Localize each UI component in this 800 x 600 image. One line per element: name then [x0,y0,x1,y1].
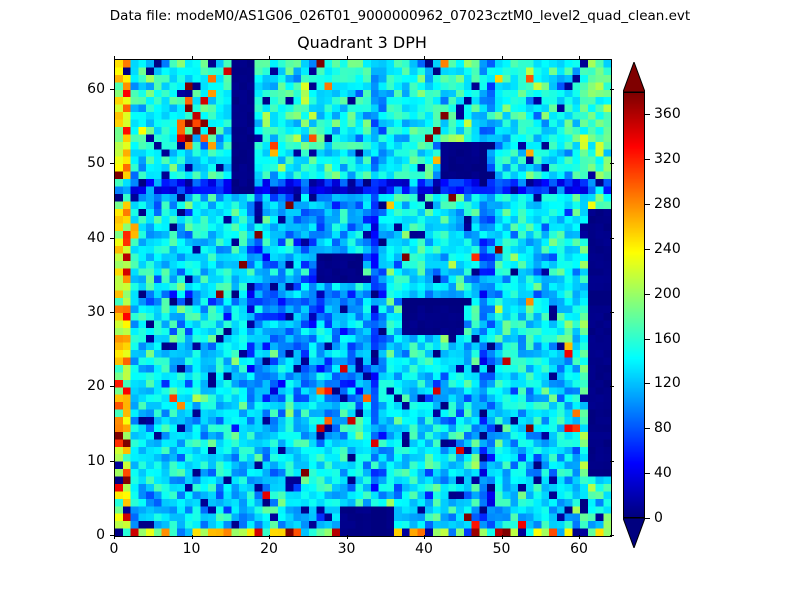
colorbar-gradient [624,93,644,517]
colorbar-tick [645,204,650,205]
y-axis-tick [110,535,114,536]
colorbar-tick-label: 160 [654,331,681,347]
colorbar-tick-label: 280 [654,196,681,212]
colorbar-extend-high-arrow-icon [623,62,645,92]
x-axis-tick-label: 20 [260,541,278,557]
datafile-label: Data file: modeM0/AS1G06_026T01_90000009… [110,8,690,24]
x-axis-tick [269,535,270,539]
y-axis-tick-right [610,163,614,164]
colorbar-tick [645,383,650,384]
colorbar-tick-label: 0 [654,510,663,526]
y-axis-tick-label: 60 [87,81,105,97]
x-axis-tick [192,535,193,539]
x-axis-tick [579,535,580,539]
y-axis-tick-right [610,89,614,90]
y-axis-tick-right [610,238,614,239]
colorbar-tick-label: 360 [654,106,681,122]
x-axis-tick-label: 50 [493,541,511,557]
colorbar-tick [645,114,650,115]
x-axis-tick-top [424,56,425,60]
colorbar-tick-label: 40 [654,465,672,481]
y-axis-tick [110,163,114,164]
x-axis-tick-top [502,56,503,60]
x-axis-tick [424,535,425,539]
x-axis-tick-top [192,56,193,60]
colorbar-body [623,92,645,518]
colorbar-tick [645,294,650,295]
y-axis-tick-label: 40 [87,230,105,246]
y-axis-tick-label: 20 [87,378,105,394]
x-axis-tick [347,535,348,539]
x-axis-tick-label: 0 [110,541,119,557]
colorbar-tick [645,159,650,160]
y-axis-tick-label: 30 [87,304,105,320]
y-axis-tick [110,461,114,462]
colorbar-tick [645,473,650,474]
x-axis-tick [114,535,115,539]
y-axis-tick-right [610,535,614,536]
x-axis-tick-label: 30 [338,541,356,557]
colorbar-tick [645,518,650,519]
heatmap-axes[interactable] [114,59,612,537]
colorbar-tick-label: 80 [654,420,672,436]
x-axis-tick-label: 60 [570,541,588,557]
colorbar-tick [645,428,650,429]
y-axis-tick-right [610,312,614,313]
x-axis-tick-top [347,56,348,60]
x-axis-tick-top [579,56,580,60]
x-axis-tick-top [114,56,115,60]
x-axis-tick-label: 40 [415,541,433,557]
x-axis-tick-label: 10 [183,541,201,557]
y-axis-tick-label: 10 [87,453,105,469]
colorbar-tick [645,339,650,340]
colorbar-tick-label: 240 [654,241,681,257]
matplotlib-figure: Data file: modeM0/AS1G06_026T01_90000009… [0,0,800,600]
y-axis-tick-right [610,461,614,462]
y-axis-tick [110,89,114,90]
page-title: Quadrant 3 DPH [297,33,427,52]
y-axis-tick-right [610,386,614,387]
colorbar-tick-label: 320 [654,151,681,167]
colorbar-tick-label: 200 [654,286,681,302]
y-axis-tick [110,386,114,387]
heatmap-image[interactable] [115,60,611,536]
colorbar-tick-label: 120 [654,375,681,391]
y-axis-tick [110,312,114,313]
x-axis-tick [502,535,503,539]
y-axis-tick [110,238,114,239]
y-axis-tick-label: 50 [87,155,105,171]
x-axis-tick-top [269,56,270,60]
colorbar-extend-low-arrow-icon [623,518,645,548]
colorbar-tick [645,249,650,250]
y-axis-tick-label: 0 [96,527,105,543]
colorbar[interactable] [623,92,645,518]
